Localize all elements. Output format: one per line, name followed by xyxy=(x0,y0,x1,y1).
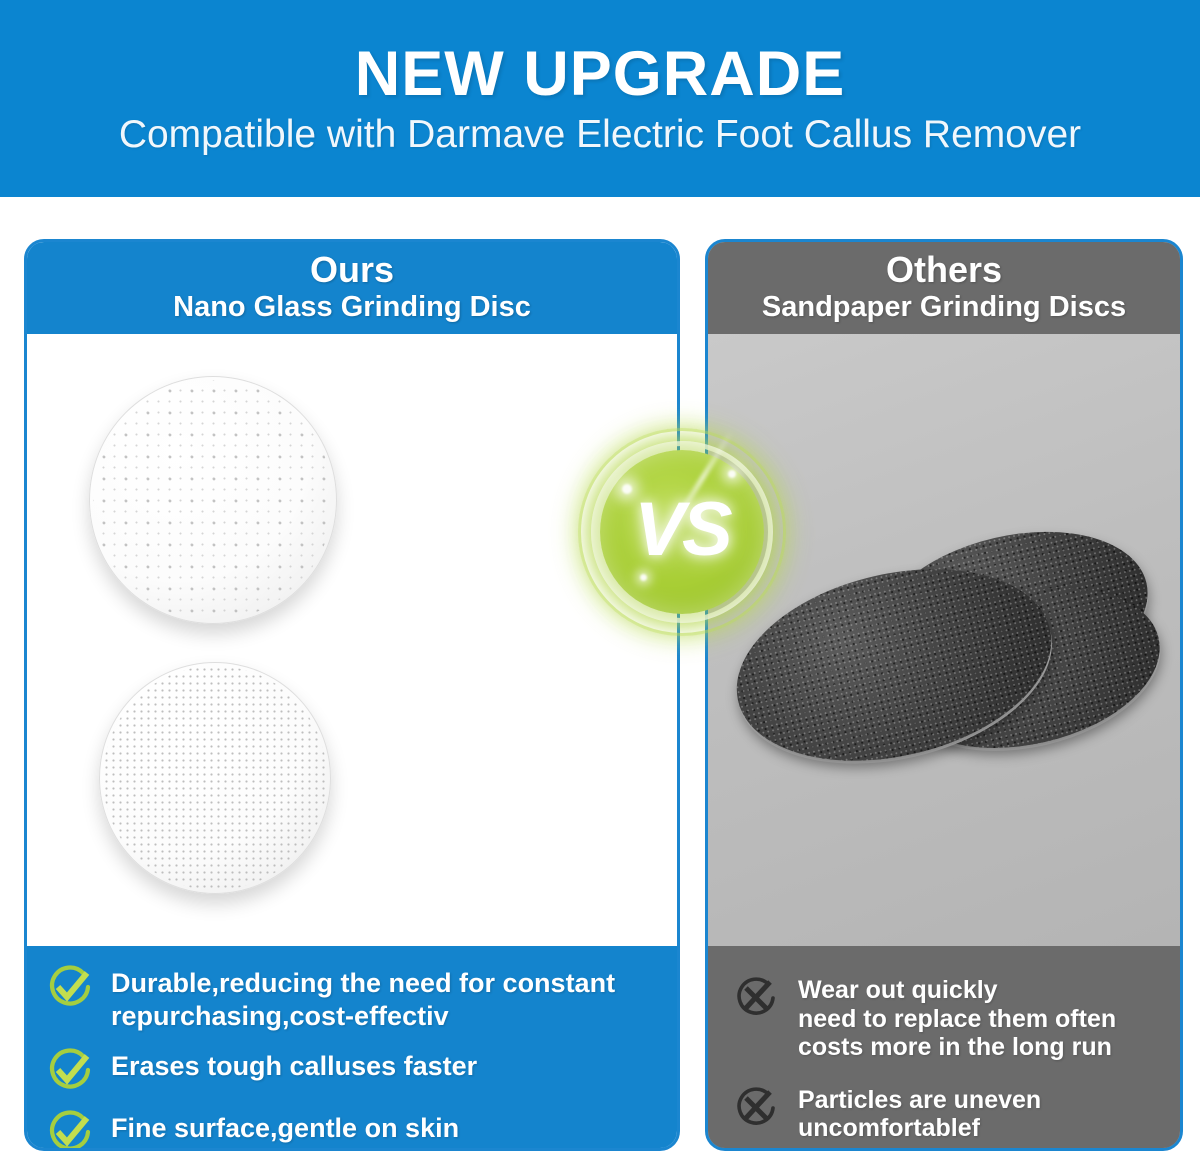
list-item: Wear out quickly need to replace them of… xyxy=(732,974,1164,1062)
vs-label: VS xyxy=(634,492,729,568)
banner-subtitle: Compatible with Darmave Electric Foot Ca… xyxy=(119,115,1081,156)
panel-others-subtitle: Sandpaper Grinding Discs xyxy=(762,291,1126,323)
panel-others-header: Others Sandpaper Grinding Discs xyxy=(708,242,1180,334)
list-item: Fine surface,gentle on skin xyxy=(45,1107,657,1151)
panel-ours-subtitle: Nano Glass Grinding Disc xyxy=(173,291,531,323)
list-item: Particles are uneven uncomfortablef xyxy=(732,1084,1164,1143)
list-item: Erases tough calluses faster xyxy=(45,1045,657,1095)
list-item-label: Erases tough calluses faster xyxy=(111,1045,477,1083)
panel-ours: Ours Nano Glass Grinding Disc Durable,re… xyxy=(24,239,680,1151)
nano-glass-disc-fine-grid-texture xyxy=(99,662,331,894)
vs-badge: VS xyxy=(578,428,786,636)
panel-ours-body xyxy=(27,334,677,946)
panel-others: Others Sandpaper Grinding Discs Wear xyxy=(705,239,1183,1151)
panel-ours-title: Ours xyxy=(310,252,394,288)
list-item-label: Particles are uneven uncomfortablef xyxy=(798,1084,1041,1143)
vs-circle: VS xyxy=(600,450,764,614)
sparkle-icon xyxy=(622,484,632,494)
top-banner: NEW UPGRADE Compatible with Darmave Elec… xyxy=(0,0,1200,197)
sparkle-icon xyxy=(728,470,736,478)
sparkle-icon xyxy=(640,574,647,581)
x-circle-icon xyxy=(732,1084,780,1132)
comparison-section: Ours Nano Glass Grinding Disc Durable,re… xyxy=(0,197,1200,1171)
check-circle-icon xyxy=(45,1045,95,1095)
panel-others-title: Others xyxy=(886,252,1002,288)
panel-ours-header: Ours Nano Glass Grinding Disc xyxy=(27,242,677,334)
list-item-label: Fine surface,gentle on skin xyxy=(111,1107,459,1145)
nano-glass-disc-circular-texture xyxy=(89,376,337,624)
sandpaper-disc-stack xyxy=(726,530,1166,860)
check-circle-icon xyxy=(45,1107,95,1151)
list-item: Durable,reducing the need for constant r… xyxy=(45,962,657,1033)
panel-others-body xyxy=(708,334,1180,946)
check-circle-icon xyxy=(45,962,95,1012)
list-item-label: Durable,reducing the need for constant r… xyxy=(111,962,657,1033)
list-item-label: Wear out quickly need to replace them of… xyxy=(798,974,1116,1062)
panel-ours-benefits: Durable,reducing the need for constant r… xyxy=(27,946,677,1151)
panel-others-drawbacks: Wear out quickly need to replace them of… xyxy=(708,946,1180,1151)
x-circle-icon xyxy=(732,974,780,1022)
banner-title: NEW UPGRADE xyxy=(355,41,846,107)
